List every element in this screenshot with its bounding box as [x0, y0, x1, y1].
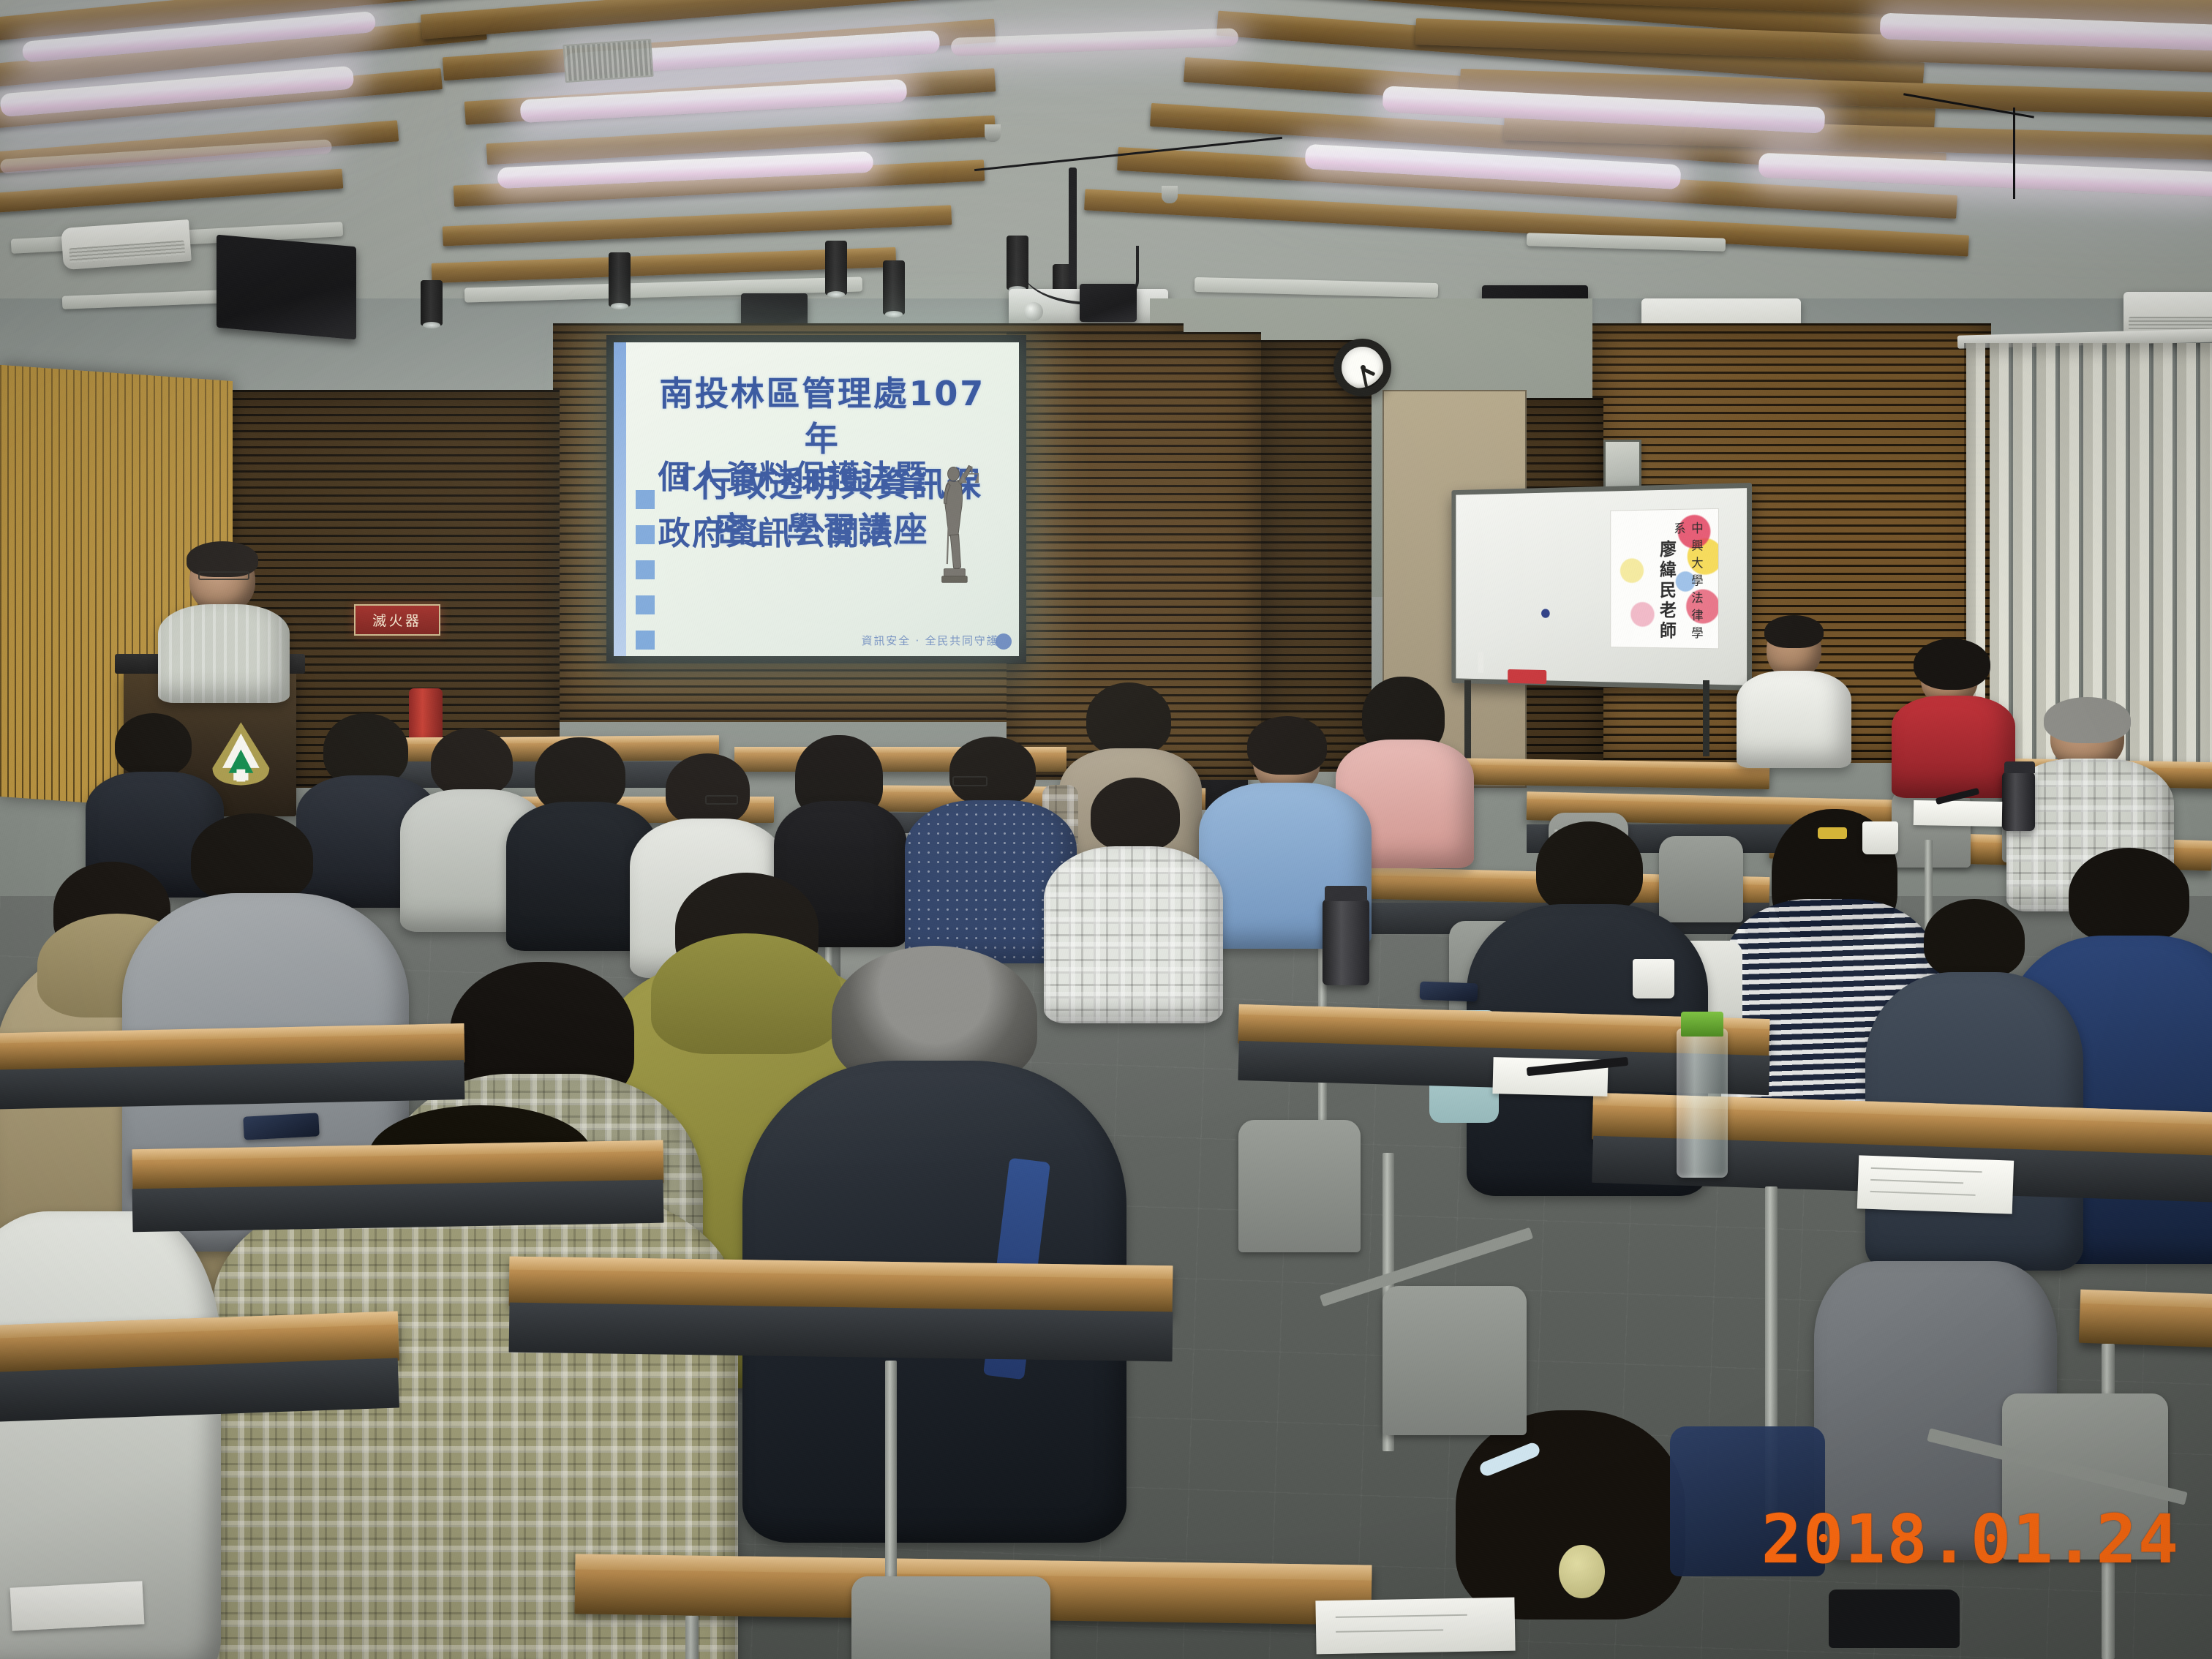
audience-hair: [2069, 848, 2189, 943]
seminar-room-photograph: 滅火器 南投林區管理處107年 「行政透明與資訊保密」學習講座: [0, 0, 2212, 1659]
projector-lens: [1024, 302, 1043, 321]
slide-logo-icon: [996, 633, 1012, 650]
paper-line: [1336, 1630, 1444, 1633]
audience-hair: [191, 813, 313, 901]
paper-line: [1336, 1614, 1467, 1618]
slide-square: [636, 595, 655, 614]
whiteboard-eraser: [1508, 669, 1547, 684]
water-bottle: [1677, 1028, 1728, 1178]
handout-paper: [10, 1581, 145, 1630]
paper-line: [1870, 1191, 1976, 1196]
paper-line: [1870, 1179, 1963, 1184]
audience-hair-tie: [1818, 827, 1847, 839]
audience-hair-scrunchie: [1559, 1545, 1605, 1598]
audience-hair: [2044, 697, 2131, 743]
thermos-flask: [2002, 772, 2035, 832]
slide-body-line-1: 個人資料保護法暨: [658, 449, 929, 505]
slide-footer-text: 資訊安全 · 全民共同守護: [862, 633, 999, 648]
handout-paper: [1913, 800, 2002, 827]
audience-hair: [1914, 639, 1990, 690]
desk-apron: [508, 1303, 1173, 1362]
slide-body: 個人資料保護法暨 政府資訊公開法: [658, 449, 929, 562]
desk-leg: [885, 1361, 897, 1593]
wall-clock: [1333, 339, 1391, 396]
thermos-cap: [1325, 886, 1366, 900]
slide-square: [636, 631, 655, 650]
ceiling-speaker: [217, 235, 356, 340]
smartphone: [243, 1113, 319, 1140]
presenter-torso: [158, 604, 290, 703]
audience-hair: [1924, 899, 2025, 979]
poster-speaker-name: 廖緯民老師: [1655, 540, 1679, 642]
presentation-slide: 南投林區管理處107年 「行政透明與資訊保密」學習講座 個人資料保護法暨 政府資…: [614, 342, 1020, 656]
thermos-cap: [2004, 761, 2035, 773]
coffee-mug: [1633, 959, 1674, 998]
audience-hair: [431, 728, 513, 797]
coffee-mug: [1862, 821, 1897, 854]
audience-hair: [1086, 682, 1171, 756]
downlight: [883, 260, 905, 315]
water-bottle-cap: [1681, 1012, 1723, 1037]
presenter-glasses-icon: [198, 571, 250, 580]
audience-glasses-icon: [705, 795, 738, 805]
audience-hair: [1536, 821, 1643, 914]
camera-date-stamp: 2018.01.24: [1761, 1500, 2180, 1579]
ceiling-air-diffuser: [563, 39, 653, 83]
audience-hair: [1091, 778, 1180, 851]
smartphone: [1420, 981, 1478, 1001]
downlight: [421, 280, 443, 326]
downlight: [825, 241, 847, 295]
downlight: [609, 252, 631, 306]
fire-extinguisher-sign: 滅火器: [354, 604, 440, 636]
audience-shoe: [1829, 1590, 1960, 1648]
whiteboard-marker: [1478, 652, 1484, 673]
slide-body-line-2: 政府資訊公開法: [658, 505, 929, 562]
audience-hair: [1764, 615, 1824, 649]
projection-screen: 南投林區管理處107年 「行政透明與資訊保密」學習講座 個人資料保護法暨 政府資…: [606, 335, 1027, 663]
sprinkler-head: [985, 124, 1001, 142]
audience-hair: [949, 737, 1036, 805]
folding-chair: [1382, 1286, 1527, 1435]
folding-chair: [851, 1576, 1050, 1659]
audience-hair: [1247, 716, 1327, 774]
folding-chair: [1238, 1120, 1360, 1252]
whiteboard-magnet: [1542, 609, 1551, 617]
ceiling-cable-run: [2013, 108, 2015, 199]
audience-glasses-icon: [952, 776, 987, 786]
whiteboard: 中興大學法律學系 廖緯民老師: [1424, 483, 1752, 691]
audience-torso: [1892, 696, 2015, 798]
ceiling-speaker: [1080, 284, 1137, 322]
whiteboard-surface: 中興大學法律學系 廖緯民老師: [1452, 483, 1752, 691]
whiteboard-stand-leg: [1703, 680, 1709, 756]
audience-hair: [115, 713, 192, 776]
paper-line: [1871, 1167, 1982, 1173]
sprinkler-head: [1162, 186, 1178, 203]
lady-justice-statue-icon: [926, 427, 979, 622]
thermos-flask: [1323, 899, 1369, 985]
handout-paper: [1857, 1155, 2014, 1214]
desk: [2078, 1290, 2212, 1352]
audience-hair: [666, 753, 750, 825]
presenter: [155, 547, 299, 696]
handout-paper: [1316, 1598, 1516, 1654]
whiteboard-poster: 中興大學法律學系 廖緯民老師: [1611, 508, 1719, 649]
audience-member: [763, 962, 1106, 1509]
slide-square: [636, 560, 655, 579]
slide-edge-bar: [614, 342, 627, 656]
audience-torso: [1737, 671, 1851, 768]
desk-leg: [685, 1616, 699, 1659]
audience-member: [1892, 647, 2015, 790]
audience-member: [1737, 620, 1851, 760]
